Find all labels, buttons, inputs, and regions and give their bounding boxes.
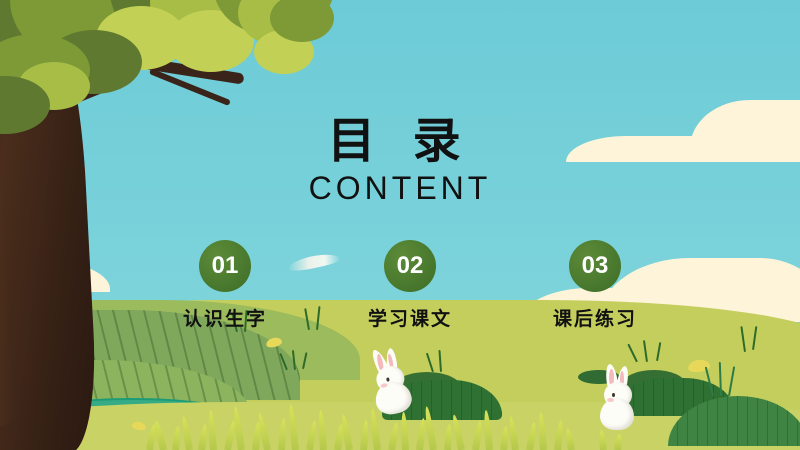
- number-badge-02[interactable]: 02: [384, 240, 436, 292]
- grass-foreground: [0, 390, 800, 450]
- content-item-02[interactable]: 02 学习课文: [335, 240, 485, 331]
- content-list: 01 认识生字 02 学习课文 03 课后练习: [150, 240, 670, 331]
- content-item-label-01[interactable]: 认识生字: [183, 304, 267, 331]
- number-badge-03[interactable]: 03: [569, 240, 621, 292]
- presentation-slide: 目 录 CONTENT 01 认识生字 02 学习课文 03 课后练习: [0, 0, 800, 450]
- content-item-01[interactable]: 01 认识生字: [150, 240, 300, 331]
- content-item-label-03[interactable]: 课后练习: [553, 304, 637, 331]
- page-title: 目 录: [0, 118, 800, 166]
- content-item-label-02[interactable]: 学习课文: [368, 304, 452, 331]
- content-item-03[interactable]: 03 课后练习: [520, 240, 670, 331]
- number-badge-01[interactable]: 01: [199, 240, 251, 292]
- page-subtitle: CONTENT: [0, 172, 800, 204]
